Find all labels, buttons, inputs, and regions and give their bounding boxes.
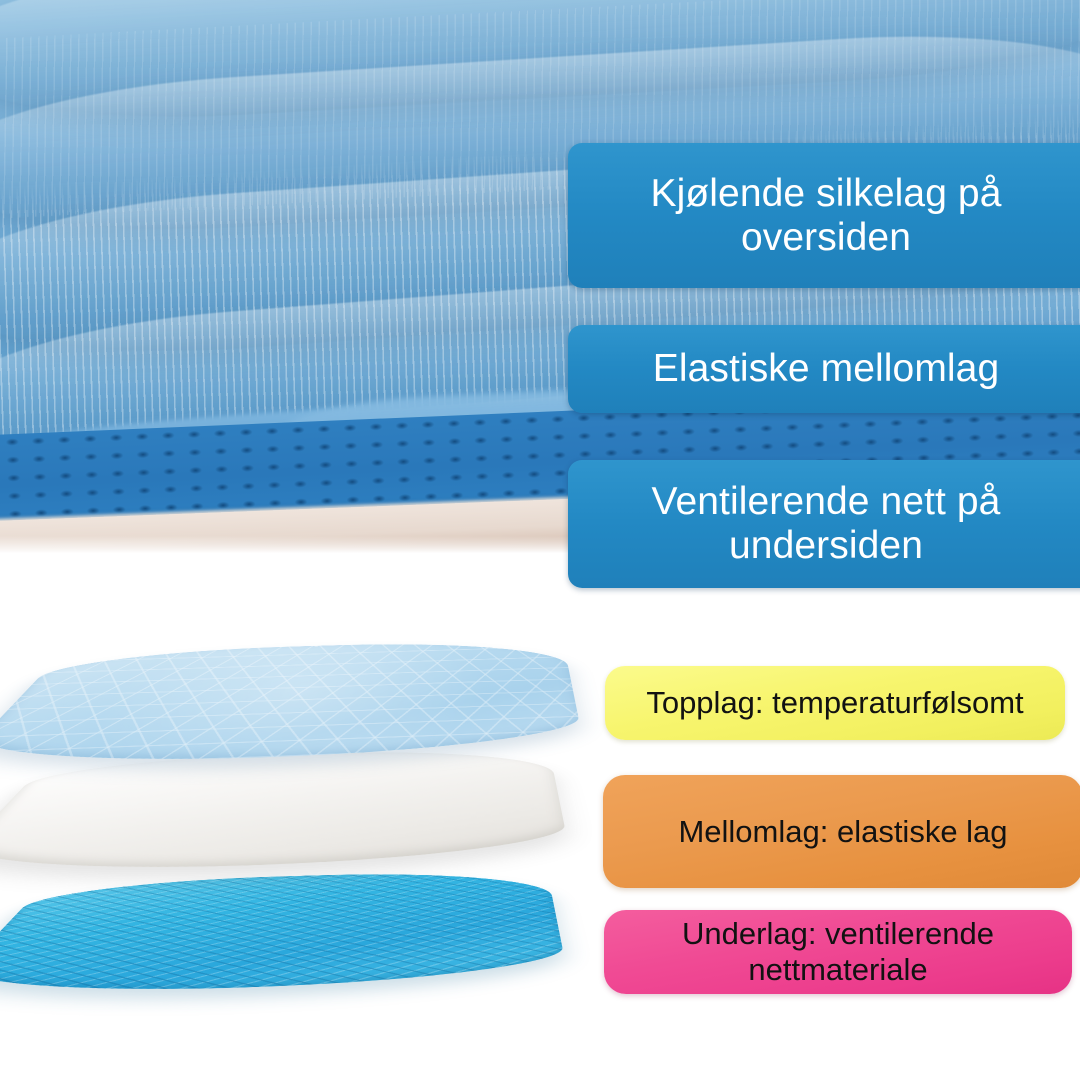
callout-top-layer: Kjølende silkelag på oversiden bbox=[568, 143, 1080, 288]
callout-middle-layer: Elastiske mellomlag bbox=[568, 325, 1080, 413]
callout-bottom-layer-label: Ventilerende nett på undersiden bbox=[594, 480, 1058, 567]
layer-sheet-top-surface bbox=[0, 639, 584, 769]
product-infographic-page: Kjølende silkelag på oversiden Elastiske… bbox=[0, 0, 1080, 1080]
chip-middle-layer: Mellomlag: elastiske lag bbox=[603, 775, 1080, 888]
exploded-layers-illustration bbox=[0, 560, 600, 1080]
chip-top-layer: Topplag: temperaturfølsomt bbox=[605, 666, 1065, 740]
chip-bottom-layer: Underlag: ventilerende nettmateriale bbox=[604, 910, 1072, 994]
callout-bottom-layer: Ventilerende nett på undersiden bbox=[568, 460, 1080, 588]
chip-top-layer-label: Topplag: temperaturfølsomt bbox=[646, 685, 1023, 721]
chip-middle-layer-label: Mellomlag: elastiske lag bbox=[678, 814, 1007, 850]
layer-sheet-top-honeycomb bbox=[18, 580, 578, 810]
chip-bottom-layer-label: Underlag: ventilerende nettmateriale bbox=[626, 916, 1050, 988]
honeycomb-texture bbox=[0, 639, 584, 769]
callout-top-layer-label: Kjølende silkelag på oversiden bbox=[594, 172, 1058, 259]
callout-middle-layer-label: Elastiske mellomlag bbox=[653, 347, 1000, 391]
